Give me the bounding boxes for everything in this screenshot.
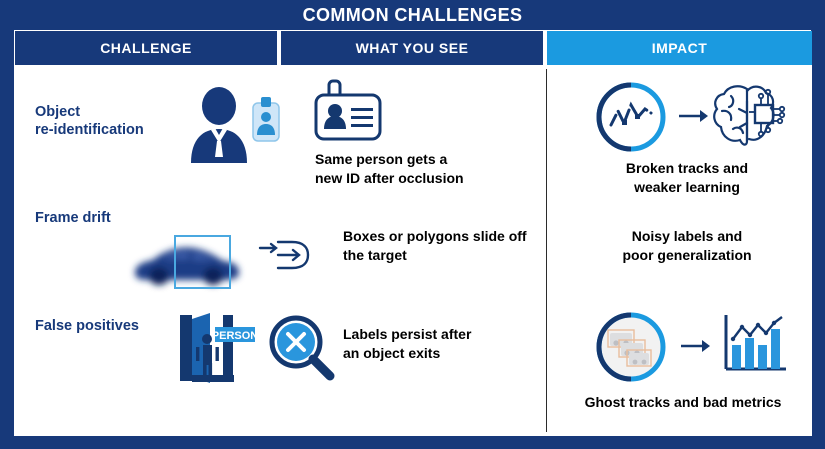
what-you-see-text-3-line2: an object exits bbox=[343, 344, 471, 363]
id-card-icon bbox=[313, 79, 383, 141]
challenge-label-2-line1: Frame drift bbox=[35, 209, 111, 227]
challenge-label-1-line1: Object bbox=[35, 103, 144, 121]
challenge-label-2: Frame drift bbox=[35, 209, 111, 227]
impact-text-1-line2: weaker learning bbox=[563, 178, 811, 197]
what-you-see-text-2: Boxes or polygons slide off the target bbox=[343, 227, 527, 265]
bar-chart-trend-icon bbox=[720, 311, 790, 377]
arrow-right-icon bbox=[678, 107, 708, 125]
impact-text-2-line2: poor generalization bbox=[563, 246, 811, 265]
impact-text-1: Broken tracks and weaker learning bbox=[563, 159, 811, 197]
table-row: Frame drift bbox=[15, 201, 812, 299]
challenge-label-3: False positives bbox=[35, 317, 139, 335]
header-cell-impact: IMPACT bbox=[547, 31, 812, 65]
challenge-label-1: Object re-identification bbox=[35, 103, 144, 139]
table-header-row: CHALLENGE WHAT YOU SEE IMPACT bbox=[15, 31, 812, 65]
what-you-see-text-1-line1: Same person gets a bbox=[315, 150, 464, 169]
table-card: CHALLENGE WHAT YOU SEE IMPACT Object re-… bbox=[14, 30, 811, 436]
blurred-car-bbox-icon bbox=[127, 231, 247, 291]
what-you-see-text-3: Labels persist after an object exits bbox=[343, 325, 471, 363]
what-you-see-text-1: Same person gets a new ID after occlusio… bbox=[315, 150, 464, 188]
magnifier-x-icon bbox=[267, 313, 337, 383]
challenge-label-3-line1: False positives bbox=[35, 317, 139, 335]
poster-frame: COMMON CHALLENGES CHALLENGE WHAT YOU SEE… bbox=[0, 0, 825, 449]
header-cell-what-you-see: WHAT YOU SEE bbox=[281, 31, 543, 65]
table-row: Object re-identification bbox=[15, 65, 812, 201]
impact-text-2: Noisy labels and poor generalization bbox=[563, 227, 811, 265]
impact-text-2-line1: Noisy labels and bbox=[563, 227, 811, 246]
door-person-label-icon: PERSON bbox=[170, 313, 256, 385]
drift-arrow-icon bbox=[258, 235, 310, 275]
table-row: False positives bbox=[15, 299, 812, 436]
challenge-label-1-line2: re-identification bbox=[35, 121, 144, 139]
impact-text-3-line1: Ghost tracks and bad metrics bbox=[555, 393, 811, 412]
what-you-see-text-1-line2: new ID after occlusion bbox=[315, 169, 464, 188]
person-id-badge-icon bbox=[183, 87, 283, 163]
broken-track-circle-icon bbox=[593, 79, 669, 155]
ai-brain-chip-icon bbox=[709, 79, 787, 153]
ghost-tracks-circle-icon bbox=[593, 309, 669, 385]
header-cell-challenge: CHALLENGE bbox=[15, 31, 277, 65]
what-you-see-text-3-line1: Labels persist after bbox=[343, 325, 471, 344]
what-you-see-text-2-line2: the target bbox=[343, 246, 527, 265]
impact-text-1-line1: Broken tracks and bbox=[563, 159, 811, 178]
page-title: COMMON CHALLENGES bbox=[0, 2, 825, 28]
table-body: Object re-identification bbox=[15, 65, 812, 436]
svg-text:PERSON: PERSON bbox=[212, 330, 259, 342]
impact-text-3: Ghost tracks and bad metrics bbox=[555, 393, 811, 412]
what-you-see-text-2-line1: Boxes or polygons slide off bbox=[343, 227, 527, 246]
arrow-right-icon bbox=[680, 337, 710, 355]
